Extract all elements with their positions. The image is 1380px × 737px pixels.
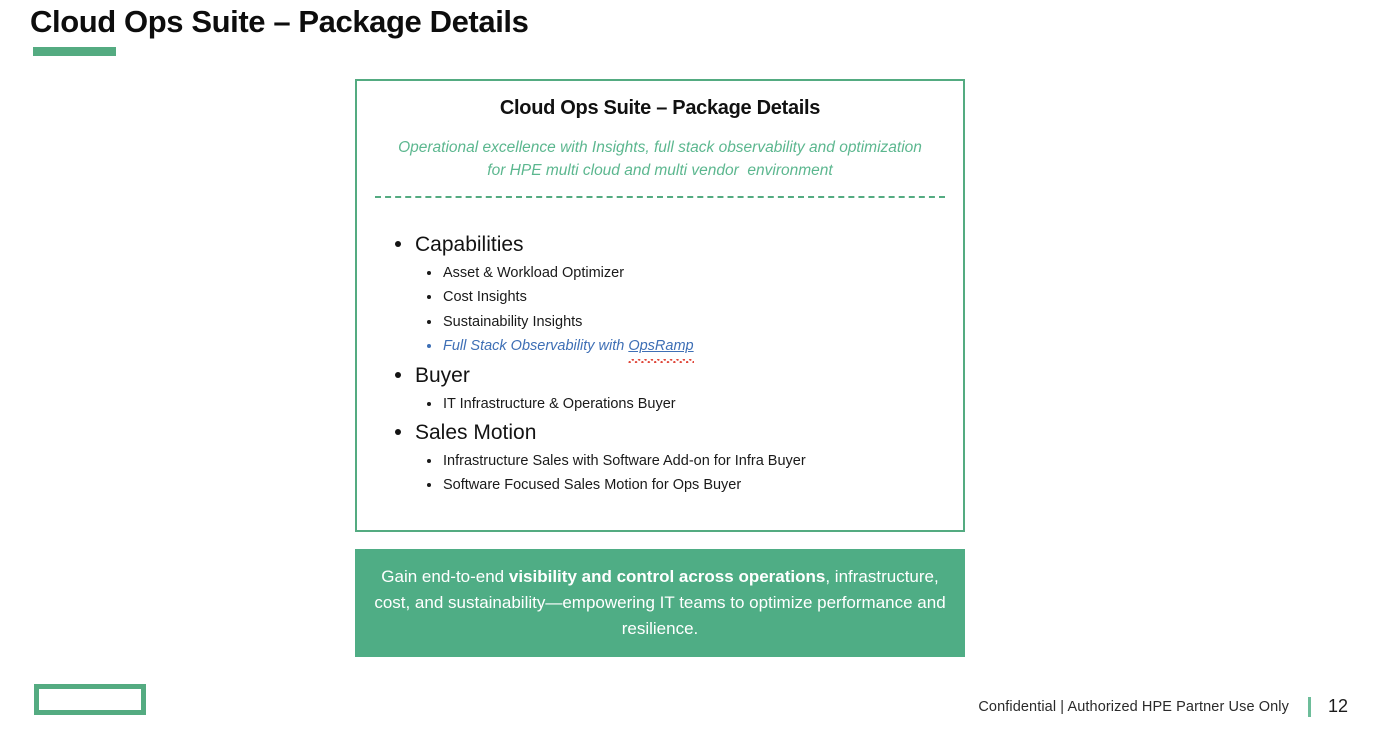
bullet-dot-icon [395, 241, 401, 247]
bullet-dot-icon [427, 483, 431, 487]
bullet-dot-icon [427, 271, 431, 275]
list-item: Infrastructure Sales with Software Add-o… [415, 449, 963, 473]
sub-list-capabilities: Asset & Workload Optimizer Cost Insights… [415, 261, 963, 359]
sub-list-buyer: IT Infrastructure & Operations Buyer [415, 392, 963, 416]
list-item-label: Full Stack Observability with [443, 338, 628, 354]
callout-emphasis: visibility and control across operations [509, 567, 825, 586]
section-heading-sales-motion: Sales Motion Infrastructure Sales with S… [357, 418, 963, 498]
value-statement-callout: Gain end-to-end visibility and control a… [355, 549, 965, 657]
list-item-label: Infrastructure Sales with Software Add-o… [443, 453, 806, 469]
hpe-logo [34, 684, 146, 715]
list-item-label: IT Infrastructure & Operations Buyer [443, 396, 676, 412]
section-heading-buyer: Buyer IT Infrastructure & Operations Buy… [357, 361, 963, 416]
confidentiality-notice: Confidential | Authorized HPE Partner Us… [978, 699, 1289, 715]
section-heading-label: Sales Motion [415, 421, 536, 444]
callout-lead: Gain end-to-end [381, 567, 509, 586]
page-number: 12 [1328, 696, 1348, 717]
list-item-label: Software Focused Sales Motion for Ops Bu… [443, 477, 741, 493]
card-divider [375, 196, 945, 198]
list-item: IT Infrastructure & Operations Buyer [415, 392, 963, 416]
bullet-dot-icon [427, 459, 431, 463]
footer: Confidential | Authorized HPE Partner Us… [978, 696, 1348, 717]
sub-list-sales-motion: Infrastructure Sales with Software Add-o… [415, 449, 963, 498]
list-item-label: Asset & Workload Optimizer [443, 265, 624, 281]
section-heading-capabilities: Capabilities Asset & Workload Optimizer … [357, 230, 963, 359]
list-item-label: Sustainability Insights [443, 314, 582, 330]
bullet-dot-icon [427, 344, 431, 348]
package-details-card: Cloud Ops Suite – Package Details Operat… [355, 79, 965, 532]
capabilities-list: Capabilities Asset & Workload Optimizer … [357, 206, 963, 498]
title-accent-bar [33, 47, 116, 56]
opsramp-link-label: OpsRamp [628, 338, 693, 354]
bullet-dot-icon [427, 320, 431, 324]
page-title: Cloud Ops Suite – Package Details [30, 4, 528, 40]
callout-text: Gain end-to-end visibility and control a… [355, 564, 965, 642]
list-item: Sustainability Insights [415, 310, 963, 334]
section-heading-label: Capabilities [415, 233, 524, 256]
list-item-opsramp-link[interactable]: Full Stack Observability with OpsRamp [415, 334, 963, 358]
card-subtitle: Operational excellence with Insights, fu… [389, 136, 931, 182]
footer-separator [1308, 697, 1311, 717]
list-item: Cost Insights [415, 285, 963, 309]
list-item-label: Cost Insights [443, 289, 527, 305]
bullet-dot-icon [395, 372, 401, 378]
list-item: Asset & Workload Optimizer [415, 261, 963, 285]
opsramp-hyperlink[interactable]: OpsRamp [628, 334, 693, 358]
card-header: Cloud Ops Suite – Package Details Operat… [357, 81, 963, 198]
card-title: Cloud Ops Suite – Package Details [375, 97, 945, 120]
list-item: Software Focused Sales Motion for Ops Bu… [415, 473, 963, 497]
section-heading-label: Buyer [415, 364, 470, 387]
bullet-dot-icon [427, 295, 431, 299]
bullet-dot-icon [395, 429, 401, 435]
bullet-dot-icon [427, 402, 431, 406]
